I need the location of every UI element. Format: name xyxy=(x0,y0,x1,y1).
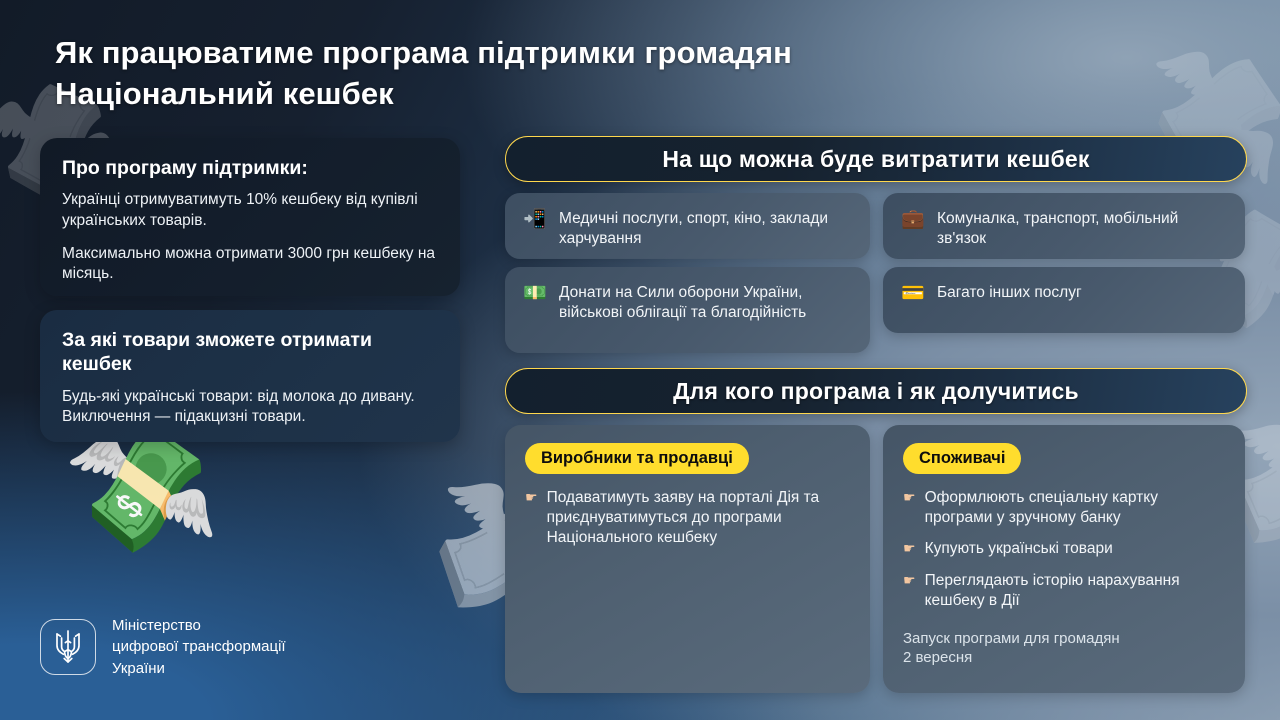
list-item-text: Оформлюють спеціальну картку програми у … xyxy=(925,488,1225,528)
about-program-paragraph-1: Українці отримуватимуть 10% кешбеку від … xyxy=(62,190,438,231)
about-program-paragraph-2: Максимально можна отримати 3000 грн кешб… xyxy=(62,244,438,285)
audience-badge-producers: Виробники та продавці xyxy=(525,443,749,474)
audience-list-producers: ☛ Подаватимуть заяву на порталі Дія та п… xyxy=(525,488,850,548)
pointing-hand-icon: ☛ xyxy=(903,488,916,507)
list-item-text: Подаватимуть заяву на порталі Дія та при… xyxy=(547,488,850,548)
briefcase-icon: 💼 xyxy=(901,209,925,230)
list-item-text: Переглядають історію нарахування кешбеку… xyxy=(925,571,1225,611)
audience-card-producers: Виробники та продавці ☛ Подаватимуть зая… xyxy=(505,425,870,693)
eligible-goods-card: За які товари зможете отримати кешбек Бу… xyxy=(40,310,460,442)
pointing-hand-icon: ☛ xyxy=(903,539,916,558)
spend-card-text: Медичні послуги, спорт, кіно, заклади ха… xyxy=(559,209,852,250)
dollar-banknote-icon: 💵 xyxy=(523,283,547,304)
spend-card-donations: 💵 Донати на Сили оборони України, військ… xyxy=(505,267,870,353)
spend-card-text: Донати на Сили оборони України, військов… xyxy=(559,283,852,324)
list-item: ☛ Купують українські товари xyxy=(903,539,1225,559)
spend-card-medical: 📲 Медичні послуги, спорт, кіно, заклади … xyxy=(505,193,870,259)
eligible-goods-paragraph-1: Будь-які українські товари: від молока д… xyxy=(62,387,438,428)
launch-date-note: Запуск програми для громадян2 вересня xyxy=(903,629,1225,668)
spend-section-header: На що можна буде витратити кешбек xyxy=(505,136,1247,182)
spend-section-title: На що можна буде витратити кешбек xyxy=(662,146,1089,173)
ministry-logo-block: Міністерствоцифрової трансформаціїУкраїн… xyxy=(40,615,286,679)
list-item: ☛ Переглядають історію нарахування кешбе… xyxy=(903,571,1225,611)
eligible-goods-heading: За які товари зможете отримати кешбек xyxy=(62,328,438,377)
about-program-heading: Про програму підтримки: xyxy=(62,156,438,180)
audience-section-title: Для кого програма і як долучитись xyxy=(673,378,1079,405)
audience-badge-consumers: Споживачі xyxy=(903,443,1021,474)
infographic-canvas: 💸 💸 💸 💸 💸 💸 Як працюватиме програма підт… xyxy=(0,0,1280,720)
page-title: Як працюватиме програма підтримки громад… xyxy=(55,32,1065,114)
ministry-name: Міністерствоцифрової трансформаціїУкраїн… xyxy=(112,615,286,679)
audience-section-header: Для кого програма і як долучитись xyxy=(505,368,1247,414)
audience-list-consumers: ☛ Оформлюють спеціальну картку програми … xyxy=(903,488,1225,611)
spend-card-other: 💳 Багато інших послуг xyxy=(883,267,1245,333)
list-item: ☛ Подаватимуть заяву на порталі Дія та п… xyxy=(525,488,850,548)
pointing-hand-icon: ☛ xyxy=(525,488,538,507)
credit-card-icon: 💳 xyxy=(901,283,925,304)
list-item-text: Купують українські товари xyxy=(925,539,1113,559)
list-item: ☛ Оформлюють спеціальну картку програми … xyxy=(903,488,1225,528)
spend-card-text: Багато інших послуг xyxy=(937,283,1082,303)
spend-card-utilities: 💼 Комуналка, транспорт, мобільний зв'язо… xyxy=(883,193,1245,259)
ukraine-trident-icon xyxy=(40,619,96,675)
audience-card-consumers: Споживачі ☛ Оформлюють спеціальну картку… xyxy=(883,425,1245,693)
spend-card-text: Комуналка, транспорт, мобільний зв'язок xyxy=(937,209,1227,250)
about-program-card: Про програму підтримки: Українці отримув… xyxy=(40,138,460,296)
pointing-hand-icon: ☛ xyxy=(903,571,916,590)
mobile-phone-with-arrow-icon: 📲 xyxy=(523,209,547,230)
money-with-wings-icon: 💸 xyxy=(61,422,223,559)
